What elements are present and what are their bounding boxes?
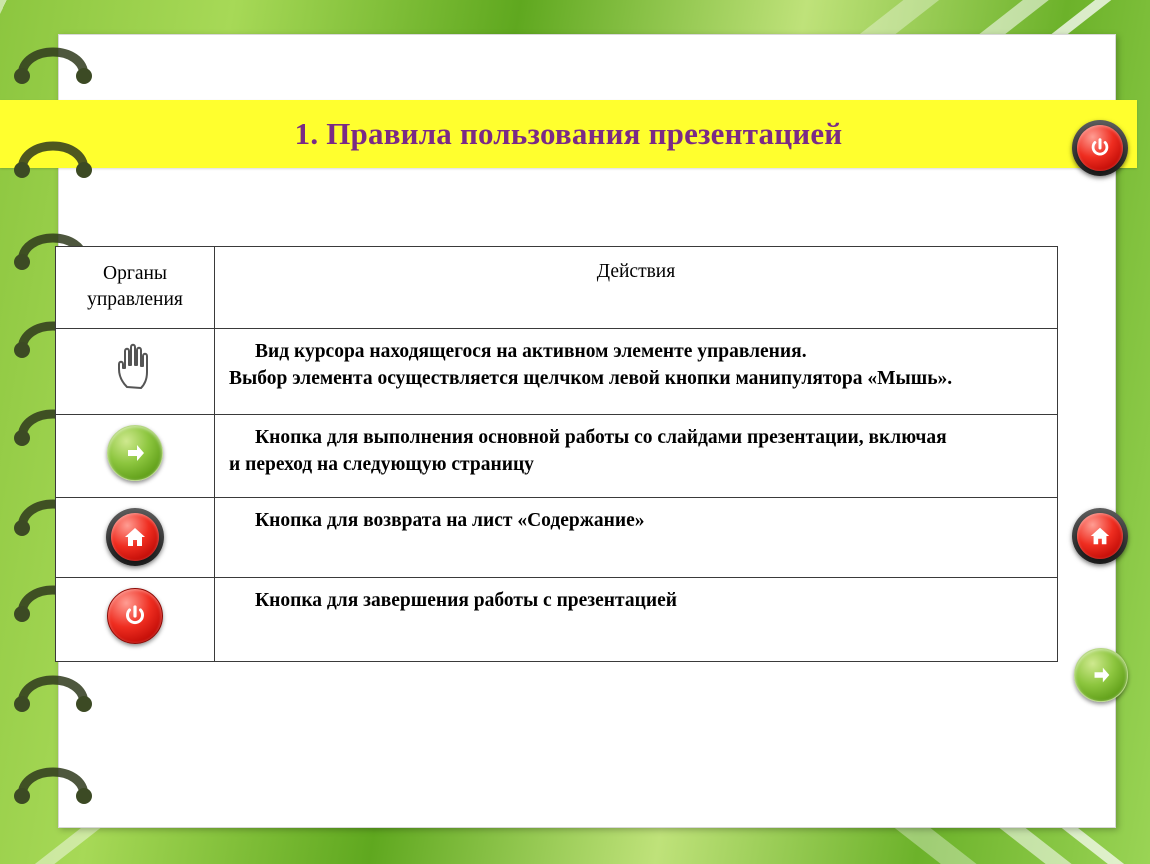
house-icon: [1077, 513, 1123, 559]
home-button-icon[interactable]: [106, 508, 164, 566]
cell-text-power: Кнопка для завершения работы с презентац…: [215, 577, 1058, 661]
cell-text-cursor: Вид курсора находящегося на активном эле…: [215, 328, 1058, 414]
next-arrow-button-icon[interactable]: [107, 425, 163, 481]
table-row: Кнопка для выполнения основной работы со…: [56, 414, 1058, 497]
table-header-row: Органы управления Действия: [56, 247, 1058, 329]
binder-ring-icon: [14, 664, 100, 712]
header-controls-line1: Органы: [103, 263, 167, 284]
row1-line1: Вид курсора находящегося на активном эле…: [229, 339, 1043, 366]
cell-icon-power: [56, 577, 215, 661]
hand-cursor-icon: [114, 341, 156, 397]
cell-icon-home: [56, 497, 215, 577]
power-button-face: [1077, 125, 1123, 171]
binder-ring-icon: [14, 756, 100, 804]
power-button[interactable]: [1072, 120, 1128, 176]
cell-icon-hand: [56, 328, 215, 414]
home-button-face: [1077, 513, 1123, 559]
table-row: Кнопка для возврата на лист «Содержание»: [56, 497, 1058, 577]
power-symbol-icon: [1077, 125, 1123, 171]
arrow-right-icon: [1075, 649, 1127, 701]
header-controls: Органы управления: [56, 247, 215, 329]
row2-line1: Кнопка для выполнения основной работы со…: [229, 425, 1043, 452]
row4-line1: Кнопка для завершения работы с презентац…: [229, 588, 1043, 615]
house-icon: [111, 513, 159, 561]
next-button[interactable]: [1074, 648, 1128, 707]
table-row: Кнопка для завершения работы с презентац…: [56, 577, 1058, 661]
cell-icon-next: [56, 414, 215, 497]
binder-ring-icon: [14, 36, 100, 84]
home-button-face: [111, 513, 159, 561]
slide-canvas: 1. Правила пользования презентацией Орга…: [0, 0, 1150, 864]
binder-ring-icon: [14, 130, 100, 178]
power-button-icon[interactable]: [107, 588, 163, 644]
table-row: Вид курсора находящегося на активном эле…: [56, 328, 1058, 414]
arrow-right-icon: [108, 426, 162, 480]
header-controls-line2: управления: [87, 289, 183, 310]
page-title: 1. Правила пользования презентацией: [295, 116, 843, 152]
cell-text-next: Кнопка для выполнения основной работы со…: [215, 414, 1058, 497]
cell-text-home: Кнопка для возврата на лист «Содержание»: [215, 497, 1058, 577]
row2-line2: и переход на следующую страницу: [229, 454, 534, 475]
title-banner: 1. Правила пользования презентацией: [0, 100, 1137, 168]
home-button[interactable]: [1072, 508, 1128, 564]
power-symbol-icon: [108, 589, 162, 643]
header-actions: Действия: [215, 247, 1058, 329]
row1-line2: Выбор элемента осуществляется щелчком ле…: [229, 368, 952, 389]
controls-table: Органы управления Действия Вид курсора н…: [55, 246, 1058, 662]
row3-line1: Кнопка для возврата на лист «Содержание»: [229, 508, 1043, 535]
